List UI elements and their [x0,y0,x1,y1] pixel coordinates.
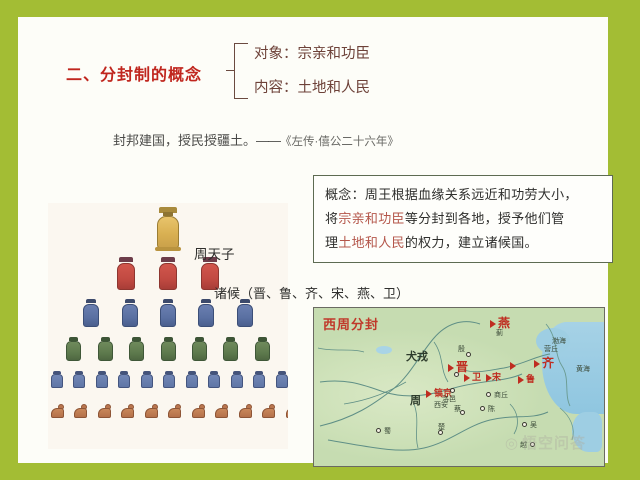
noble-body [198,304,214,327]
figure-commoner [286,403,288,419]
pyramid-tier-nobles [48,299,288,328]
map-state-song: 宋 [492,370,501,383]
map-city-cai: 蔡 [454,404,461,414]
soldier-body [96,374,108,388]
figure-commoner [51,403,64,419]
commoner-body [74,408,87,418]
figure-lord [116,257,136,291]
figure-commoner [145,403,158,419]
map-sea-label-bohai: 渤海 [552,336,566,346]
slide-canvas: 二、分封制的概念 对象：宗亲和功臣 内容：土地和人民 封邦建国，授民授疆土。——… [18,17,608,463]
quote-dash: —— [256,133,280,148]
concept-line-1: 概念：周王根据血缘关系远近和功劳大小， [325,183,602,207]
figure-commoner [262,403,275,419]
slide-border-left [0,0,18,480]
lord-hat [161,257,175,262]
concept-line-3-a: 理 [325,235,338,250]
figure-commoner [98,403,111,419]
map-flag-lu [518,376,524,384]
concept-box: 概念：周王根据血缘关系远近和功劳大小， 将宗亲和功臣等分封到各地，授予他们管 理… [313,175,613,263]
soldier-body [118,374,130,388]
quote-text: 封邦建国，授民授疆土。——《左传·僖公二十六年》 [113,130,399,149]
map-flag-yan [490,320,496,328]
figure-commoner [121,403,134,419]
map-state-shu: 蜀 [384,426,391,436]
map-city-ji: 蓟 [496,328,503,338]
map-state-zhou: 周 [410,392,421,408]
label-zhou-king: 周天子 [194,243,235,263]
figure-commoner [239,403,252,419]
watermark-logo-icon: ◎ [505,434,519,452]
map-dot-shu [376,428,381,433]
figure-soldier [253,371,265,389]
figure-commoner [168,403,181,419]
map-dot-shangqiu [486,392,491,397]
figure-soldier [96,371,108,389]
map-flag-jin [448,364,454,372]
commoner-body [239,408,252,418]
soldier-body [186,374,198,388]
map-city-luoyi: 洛邑 [442,394,456,404]
watermark-text: 悟空问答 [522,435,586,452]
figure-soldier [141,371,153,389]
noble-hat [125,299,135,303]
figure-officer [161,337,176,362]
map-flag-wei [464,374,470,382]
figure-commoner [192,403,205,419]
lord-body [117,263,135,290]
figure-soldier [208,371,220,389]
map-dot-luoyi [454,372,459,377]
figure-soldier [163,371,175,389]
map-city-shangqiu: 商丘 [494,390,508,400]
figure-noble [122,299,138,328]
king-body [157,216,179,249]
concept-line-3: 理土地和人民的权力，建立诸候国。 [325,231,602,255]
king-hat [159,207,177,213]
officer-body [98,341,113,361]
officer-body [255,341,270,361]
soldier-body [231,374,243,388]
figure-soldier [51,371,63,389]
concept-line-2-b: 等分封到各地，授予他们管 [405,211,565,226]
figure-king [155,207,181,251]
soldier-body [51,374,63,388]
soldier-body [276,374,288,388]
noble-body [237,304,253,327]
figure-noble [160,299,176,328]
figure-lord [158,257,178,291]
figure-soldier [231,371,243,389]
lord-hat [119,257,133,262]
pyramid-tier-officers [48,337,288,362]
bracket-shape [234,43,248,99]
figure-noble [83,299,99,328]
commoner-body [215,408,228,418]
map-state-qi: 齐 [542,354,554,371]
noble-body [83,304,99,327]
officer-body [223,341,238,361]
map-state-chu: 楚 [438,422,445,432]
commoner-body [286,408,288,418]
figure-soldier [73,371,85,389]
figure-commoner [74,403,87,419]
officer-body [161,341,176,361]
concept-highlight-tudi: 土地和人民 [338,235,405,250]
noble-hat [201,299,211,303]
map-flag-lu-north [510,362,516,370]
map-city-chen: 陈 [488,404,495,414]
pyramid-tier-soldiers [48,371,288,389]
label-feudal-lords: 诸候（晋、鲁、齐、宋、燕、卫） [214,283,409,302]
slide: 二、分封制的概念 对象：宗亲和功臣 内容：土地和人民 封邦建国，授民授疆土。——… [0,0,640,480]
lord-body [159,263,177,290]
officer-body [129,341,144,361]
map-city-yin: 殷 [458,344,465,354]
figure-officer [98,337,113,362]
map-flag-haojing [426,390,432,398]
noble-body [122,304,138,327]
figure-officer [223,337,238,362]
watermark: ◎悟空问答 [505,432,586,453]
commoner-body [121,408,134,418]
concept-line-2: 将宗亲和功臣等分封到各地，授予他们管 [325,207,602,231]
concept-line-2-a: 将 [325,211,338,226]
pyramid-tier-commoners [48,401,288,419]
king-base [155,247,181,251]
officer-body [66,341,81,361]
map-state-wu: 吴 [530,420,537,430]
commoner-body [145,408,158,418]
soldier-body [253,374,265,388]
page-title: 二、分封制的概念 [66,61,202,85]
map-dot-wu [522,422,527,427]
slide-border-top [0,0,640,17]
map-state-lu: 鲁 [526,372,535,385]
figure-noble [237,299,253,328]
officer-body [192,341,207,361]
quote-body: 封邦建国，授民授疆土。 [113,133,256,148]
map-state-wei: 卫 [472,370,481,383]
noble-body [160,304,176,327]
map-flag-qi [534,360,540,368]
figure-noble [198,299,214,328]
soldier-body [163,374,175,388]
map-dot-chen [480,406,485,411]
map-tribe-quanrong: 犬戎 [406,348,428,364]
figure-officer [192,337,207,362]
bracket-stub [226,70,235,71]
commoner-body [51,408,64,418]
concept-line-3-b: 的权力，建立诸候国。 [405,235,538,250]
bracket-line-content: 内容：土地和人民 [254,76,370,97]
soldier-body [141,374,153,388]
noble-hat [86,299,96,303]
soldier-body [208,374,220,388]
map-dot-luoyang [450,388,455,393]
commoner-body [192,408,205,418]
figure-soldier [186,371,198,389]
noble-hat [163,299,173,303]
map-dot-yin [466,352,471,357]
soldier-body [73,374,85,388]
concept-highlight-zongqin: 宗亲和功臣 [338,211,405,226]
bracket-line-object: 对象：宗亲和功臣 [254,42,370,63]
figure-soldier [118,371,130,389]
commoner-body [98,408,111,418]
commoner-body [168,408,181,418]
commoner-body [262,408,275,418]
pyramid-tier-king [48,207,288,251]
quote-source: 《左传·僖公二十六年》 [280,136,399,148]
figure-officer [129,337,144,362]
figure-commoner [215,403,228,419]
figure-officer [255,337,270,362]
figure-soldier [276,371,288,389]
figure-officer [66,337,81,362]
social-hierarchy-pyramid-image [48,203,288,449]
map-sea-label-huanghai: 黄海 [576,364,590,374]
